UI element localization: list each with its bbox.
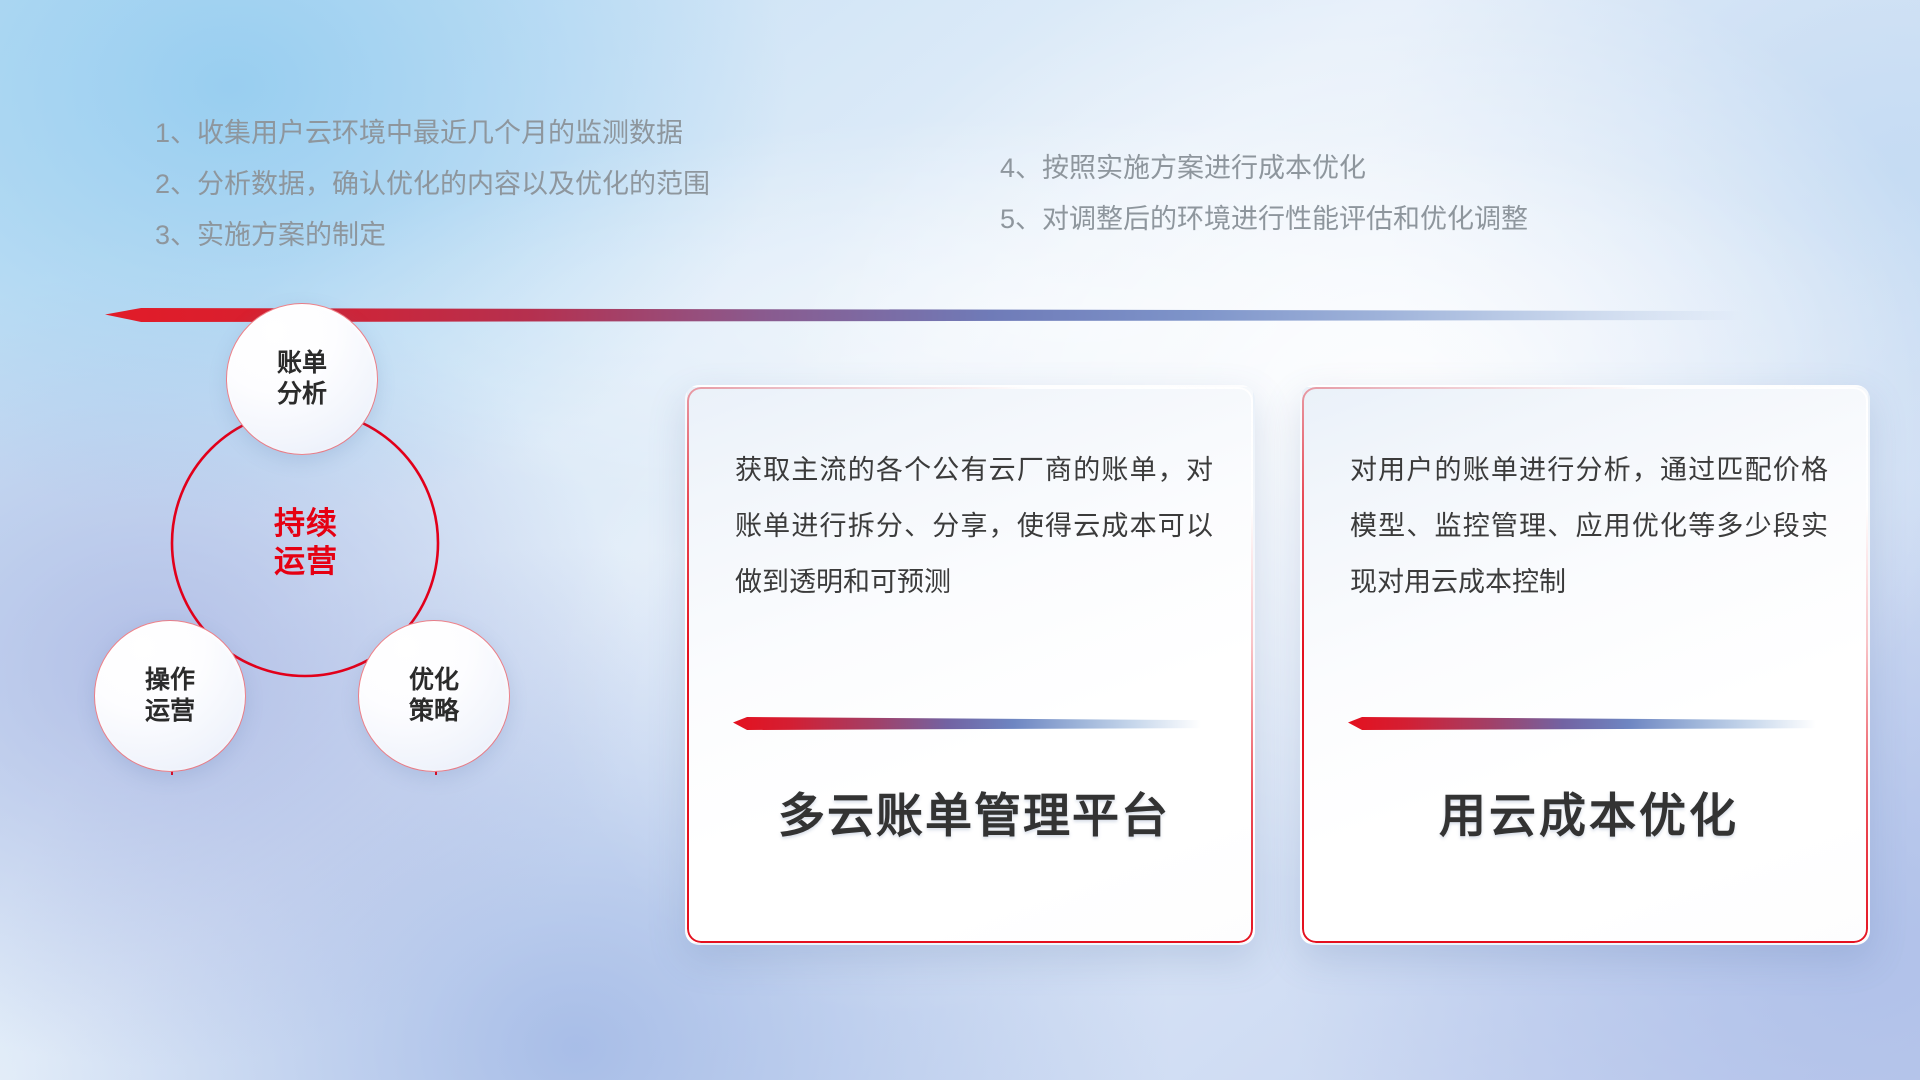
venn-bubble-optimization-strategy[interactable]: 优化 策略 xyxy=(358,620,510,772)
card-body-text: 对用户的账单进行分析，通过匹配价格模型、监控管理、应用优化等多少段实现对用云成本… xyxy=(1350,442,1828,610)
venn-diagram: 持续 运营 账单 分析 操作 运营 优化 策略 xyxy=(86,345,556,885)
card-body-text: 获取主流的各个公有云厂商的账单，对账单进行拆分、分享，使得云成本可以做到透明和可… xyxy=(735,442,1213,610)
process-step-item: 1、收集用户云环境中最近几个月的监测数据 xyxy=(155,120,710,147)
bubble-label-line2: 策略 xyxy=(409,696,459,728)
bubble-label-line2: 分析 xyxy=(277,379,327,411)
feature-card-bill-platform[interactable]: 获取主流的各个公有云厂商的账单，对账单进行拆分、分享，使得云成本可以做到透明和可… xyxy=(685,385,1255,945)
header-divider xyxy=(105,308,1745,322)
process-steps-right: 4、按照实施方案进行成本优化 5、对调整后的环境进行性能评估和优化调整 xyxy=(1000,155,1528,233)
gradient-rule xyxy=(1348,717,1816,730)
process-step-item: 5、对调整后的环境进行性能评估和优化调整 xyxy=(1000,206,1528,233)
card-title: 用云成本优化 xyxy=(1350,777,1828,846)
card-title: 多云账单管理平台 xyxy=(735,777,1213,846)
gradient-rule xyxy=(733,717,1201,730)
venn-center-label: 持续 运营 xyxy=(251,495,361,591)
gradient-rule xyxy=(105,308,1745,322)
bubble-label-line1: 账单 xyxy=(277,348,327,380)
feature-card-cost-optimization[interactable]: 对用户的账单进行分析，通过匹配价格模型、监控管理、应用优化等多少段实现对用云成本… xyxy=(1300,385,1870,945)
bubble-label-line1: 操作 xyxy=(145,665,195,697)
process-step-item: 2、分析数据，确认优化的内容以及优化的范围 xyxy=(155,171,710,198)
process-step-item: 3、实施方案的制定 xyxy=(155,222,710,249)
card-divider xyxy=(733,717,1201,730)
bubble-label-line1: 优化 xyxy=(409,665,459,697)
process-step-item: 4、按照实施方案进行成本优化 xyxy=(1000,155,1528,182)
venn-bubble-bill-analysis[interactable]: 账单 分析 xyxy=(226,303,378,455)
bubble-label-line2: 运营 xyxy=(145,696,195,728)
process-steps-left: 1、收集用户云环境中最近几个月的监测数据 2、分析数据，确认优化的内容以及优化的… xyxy=(155,120,710,249)
venn-bubble-operations[interactable]: 操作 运营 xyxy=(94,620,246,772)
venn-center-line1: 持续 xyxy=(274,505,338,543)
card-divider xyxy=(1348,717,1816,730)
slide-canvas: 1、收集用户云环境中最近几个月的监测数据 2、分析数据，确认优化的内容以及优化的… xyxy=(0,0,1920,1080)
venn-center-line2: 运营 xyxy=(274,543,338,581)
